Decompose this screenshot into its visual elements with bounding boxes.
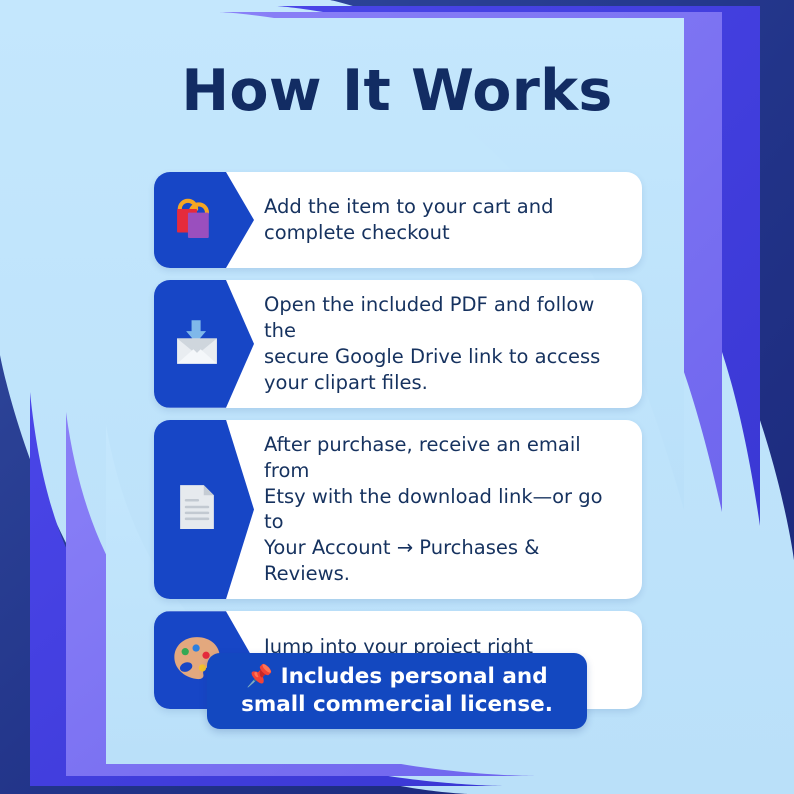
- step-2-text: Open the included PDF and follow the sec…: [254, 280, 642, 408]
- step-3-icon-panel: [154, 420, 254, 600]
- document-page-icon: [170, 480, 224, 538]
- step-card-2: Open the included PDF and follow the sec…: [154, 280, 642, 408]
- step-1-icon-panel: [154, 172, 254, 268]
- license-banner: 📌 Includes personal and small commercial…: [207, 653, 587, 729]
- step-3-text: After purchase, receive an email from Et…: [254, 420, 642, 600]
- page-title: How It Works: [0, 62, 794, 122]
- step-card-1: Add the item to your cart and complete c…: [154, 172, 642, 268]
- step-card-3: After purchase, receive an email from Et…: [154, 420, 642, 600]
- infographic-canvas: How It Works Add the item to your cart a…: [0, 0, 794, 794]
- license-banner-text: 📌 Includes personal and small commercial…: [227, 663, 567, 720]
- steps-list: Add the item to your cart and complete c…: [154, 172, 642, 721]
- shopping-bags-icon: [168, 189, 226, 251]
- step-1-text: Add the item to your cart and complete c…: [254, 172, 642, 268]
- inbox-tray-icon: [168, 313, 226, 375]
- step-2-icon-panel: [154, 280, 254, 408]
